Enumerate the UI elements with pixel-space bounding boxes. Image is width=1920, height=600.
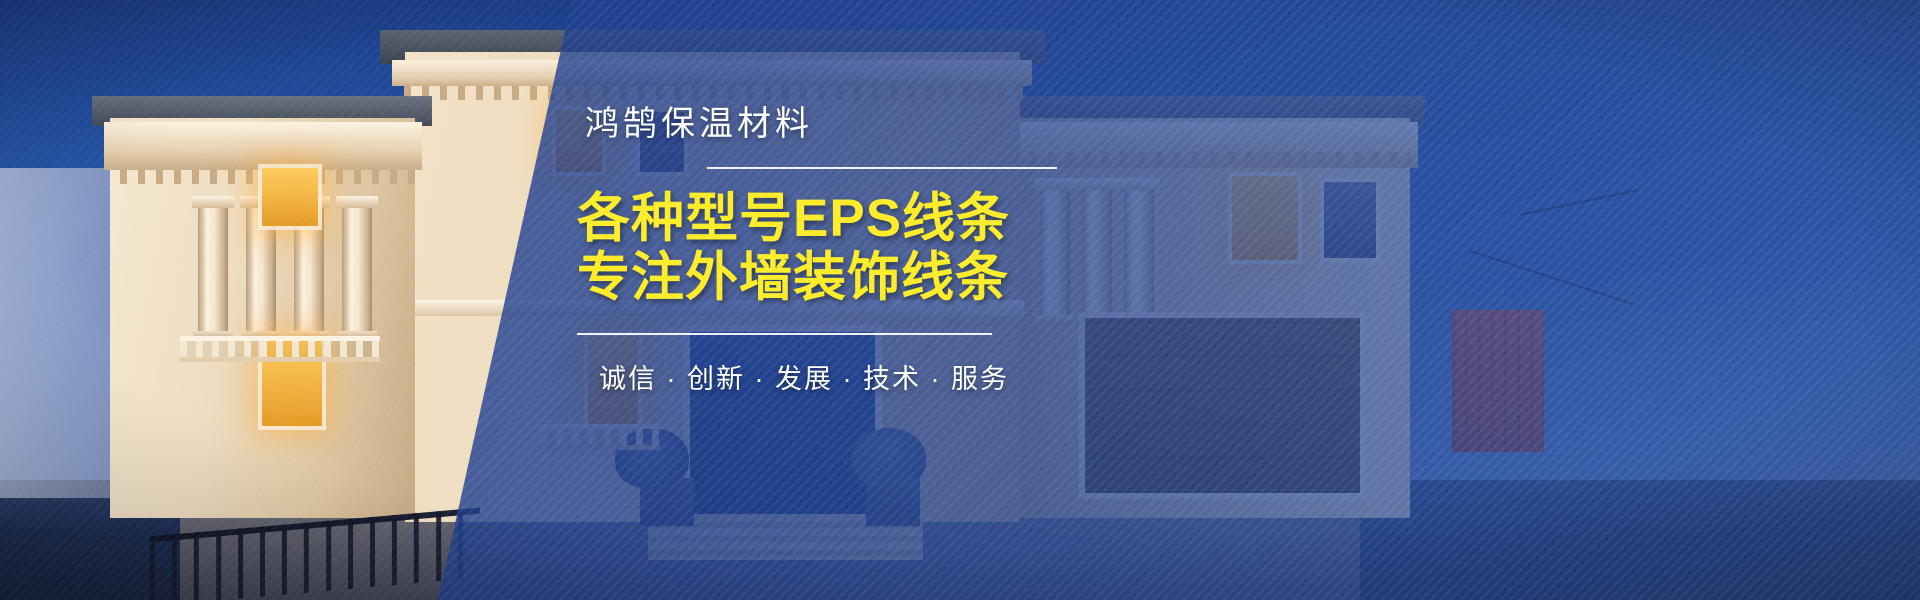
divider-bottom: [577, 333, 992, 335]
headline: 各种型号EPS线条 专注外墙装饰线条: [577, 189, 1057, 307]
brand-name: 鸿鹄保温材料: [577, 96, 1057, 145]
headline-line-1: 各种型号EPS线条: [577, 189, 1010, 248]
headline-line-2: 专注外墙装饰线条: [577, 248, 1057, 307]
tagline: 诚信 · 创新 · 发展 · 技术 · 服务: [577, 357, 1057, 396]
divider-top: [707, 167, 1057, 169]
banner-copy: 鸿鹄保温材料 各种型号EPS线条 专注外墙装饰线条 诚信 · 创新 · 发展 ·…: [577, 96, 1057, 396]
promotional-banner: 鸿鹄保温材料 各种型号EPS线条 专注外墙装饰线条 诚信 · 创新 · 发展 ·…: [0, 0, 1920, 600]
